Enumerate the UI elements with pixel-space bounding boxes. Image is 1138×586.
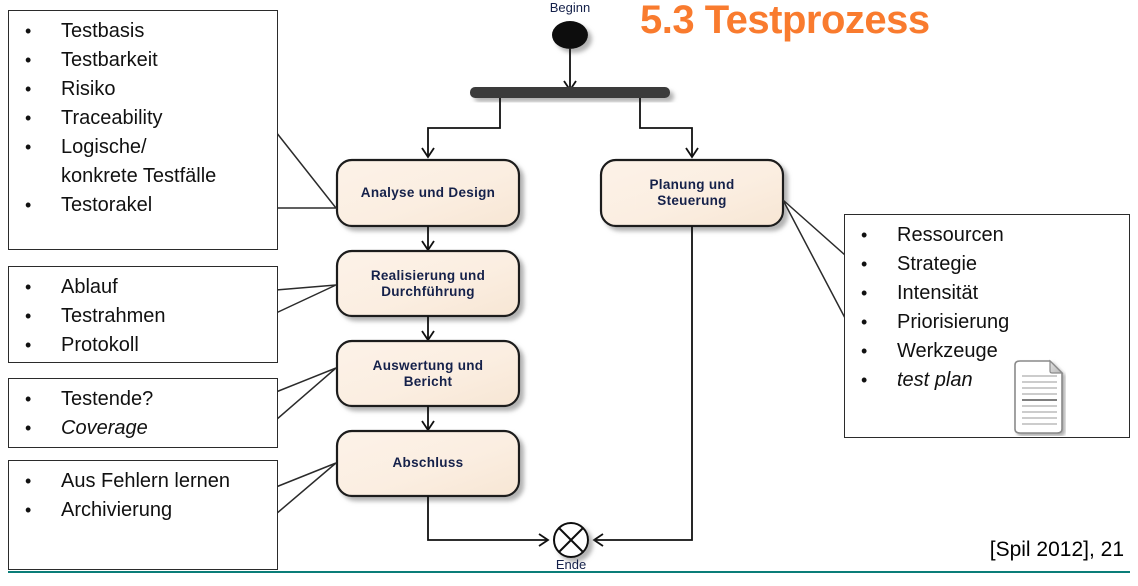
note-planung: •Ressourcen •Strategie •Intensität •Prio… bbox=[844, 214, 1130, 438]
note-planung-item-5: test plan bbox=[897, 369, 973, 391]
callout-tail-planung bbox=[783, 200, 845, 318]
footer-reference: [Spil 2012], 21 bbox=[990, 538, 1124, 562]
edge-abschluss-to-ende bbox=[428, 496, 548, 540]
note-analyse: •Testbasis •Testbarkeit •Risiko •Traceab… bbox=[8, 10, 278, 250]
note-analyse-item-6: Testorakel bbox=[61, 194, 152, 216]
bullet-icon: • bbox=[25, 17, 31, 46]
edge-fork-to-analyse bbox=[428, 98, 500, 157]
bullet-icon: • bbox=[25, 414, 31, 443]
callout-tail-analyse bbox=[276, 132, 336, 208]
note-abschluss-item-1: Archivierung bbox=[61, 499, 172, 521]
note-analyse-list: •Testbasis •Testbarkeit •Risiko •Traceab… bbox=[9, 17, 277, 220]
list-item: •Testende? bbox=[9, 385, 277, 414]
note-planung-item-3: Priorisierung bbox=[897, 311, 1009, 333]
list-item: •Intensität bbox=[845, 279, 1129, 308]
edge-fork-to-planung bbox=[640, 98, 692, 157]
bullet-icon: • bbox=[861, 366, 867, 395]
bullet-icon: • bbox=[861, 221, 867, 250]
list-item: •Risiko bbox=[9, 75, 277, 104]
bullet-icon: • bbox=[25, 331, 31, 360]
note-realisierung: •Ablauf •Testrahmen •Protokoll bbox=[8, 266, 278, 363]
list-item: •Aus Fehlern lernen bbox=[9, 467, 277, 496]
list-item: •test plan bbox=[845, 366, 1129, 395]
bullet-icon: • bbox=[25, 75, 31, 104]
list-item: •Protokoll bbox=[9, 331, 277, 360]
list-item: •Strategie bbox=[845, 250, 1129, 279]
note-analyse-item-2: Risiko bbox=[61, 78, 115, 100]
list-item: •Testorakel bbox=[9, 191, 277, 220]
list-item: •Testbasis bbox=[9, 17, 277, 46]
list-item: •Werkzeuge bbox=[845, 337, 1129, 366]
list-item-continuation: konkrete Testfälle bbox=[9, 162, 277, 191]
bullet-icon: • bbox=[861, 279, 867, 308]
note-planung-item-4: Werkzeuge bbox=[897, 340, 998, 362]
end-node bbox=[554, 523, 588, 557]
bullet-icon: • bbox=[25, 496, 31, 525]
activity-auswertung[interactable] bbox=[337, 341, 519, 406]
bullet-icon: • bbox=[25, 467, 31, 496]
list-item: •Testrahmen bbox=[9, 302, 277, 331]
fork-bar bbox=[470, 87, 670, 98]
note-planung-item-2: Intensität bbox=[897, 282, 978, 304]
callout-tail-auswertung bbox=[276, 368, 336, 420]
activity-realisierung[interactable] bbox=[337, 251, 519, 316]
list-item: •Priorisierung bbox=[845, 308, 1129, 337]
note-auswertung-list: •Testende? •Coverage bbox=[9, 385, 277, 443]
note-auswertung-item-1: Coverage bbox=[61, 417, 148, 439]
callout-tail-abschluss bbox=[276, 463, 336, 514]
list-item: •Coverage bbox=[9, 414, 277, 443]
list-item: •Testbarkeit bbox=[9, 46, 277, 75]
note-analyse-item-0: Testbasis bbox=[61, 20, 144, 42]
note-planung-list: •Ressourcen •Strategie •Intensität •Prio… bbox=[845, 221, 1129, 395]
bullet-icon: • bbox=[25, 302, 31, 331]
note-analyse-item-1: Testbarkeit bbox=[61, 49, 158, 71]
activity-abschluss[interactable] bbox=[337, 431, 519, 496]
bullet-icon: • bbox=[25, 273, 31, 302]
note-analyse-item-4: Logische/ bbox=[61, 136, 147, 158]
bullet-icon: • bbox=[25, 191, 31, 220]
list-item: •Archivierung bbox=[9, 496, 277, 525]
note-realisierung-item-1: Testrahmen bbox=[61, 305, 166, 327]
document-icon bbox=[1012, 359, 1066, 436]
note-auswertung: •Testende? •Coverage bbox=[8, 378, 278, 448]
list-item: •Traceability bbox=[9, 104, 277, 133]
note-abschluss-item-0: Aus Fehlern lernen bbox=[61, 470, 230, 492]
slide-canvas: 5.3 Testprozess Beginn Ende Analyse und … bbox=[0, 0, 1138, 586]
start-node bbox=[552, 21, 588, 49]
note-realisierung-item-0: Ablauf bbox=[61, 276, 118, 298]
note-auswertung-item-0: Testende? bbox=[61, 388, 153, 410]
activity-analyse[interactable] bbox=[337, 160, 519, 226]
bullet-icon: • bbox=[861, 250, 867, 279]
bullet-icon: • bbox=[861, 337, 867, 366]
note-abschluss-list: •Aus Fehlern lernen •Archivierung bbox=[9, 467, 277, 525]
list-item: •Ablauf bbox=[9, 273, 277, 302]
note-planung-item-1: Strategie bbox=[897, 253, 977, 275]
bullet-icon: • bbox=[25, 385, 31, 414]
bullet-icon: • bbox=[861, 308, 867, 337]
page-title: 5.3 Testprozess bbox=[640, 0, 930, 43]
note-abschluss: •Aus Fehlern lernen •Archivierung bbox=[8, 460, 278, 570]
start-node-label: Beginn bbox=[520, 0, 620, 15]
note-realisierung-item-2: Protokoll bbox=[61, 334, 139, 356]
bullet-icon: • bbox=[25, 46, 31, 75]
activity-planung[interactable] bbox=[601, 160, 783, 226]
note-analyse-item-5: konkrete Testfälle bbox=[61, 165, 216, 187]
list-item: •Logische/ bbox=[9, 133, 277, 162]
note-realisierung-list: •Ablauf •Testrahmen •Protokoll bbox=[9, 273, 277, 360]
list-item: •Ressourcen bbox=[845, 221, 1129, 250]
note-planung-item-0: Ressourcen bbox=[897, 224, 1004, 246]
callout-tail-realisierung bbox=[276, 285, 336, 313]
note-analyse-item-3: Traceability bbox=[61, 107, 163, 129]
edge-planung-to-ende bbox=[594, 226, 692, 540]
end-node-label: Ende bbox=[521, 557, 621, 572]
bullet-icon: • bbox=[25, 104, 31, 133]
bullet-icon: • bbox=[25, 133, 31, 162]
